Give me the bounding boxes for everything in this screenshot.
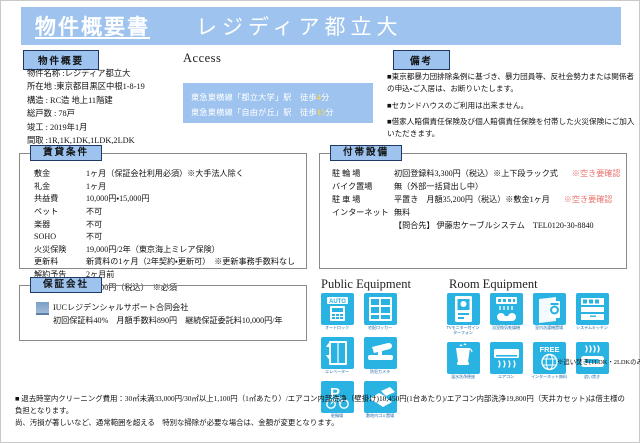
facility-row: バイク置場無（外部一括貸出し中） [332,181,620,194]
equipment-item-label: 室内洗濯機置場 [535,326,563,331]
equipment-item-label: インターネット無料 [531,375,567,380]
rent-condition-label: 更新料 [34,256,86,269]
svg-text:AUTO: AUTO [329,299,346,305]
access-line-2-pre: 東急東横線「自由が丘」駅 徒歩 [191,108,317,117]
room-equipment-heading: Room Equipment [449,277,538,292]
equipment-item-label: エアコン [498,375,514,380]
facility-value: 無料 [394,207,410,220]
rent-condition-row: ペット不可 [34,206,295,219]
rent-condition-row: 礼金1ヶ月 [34,181,295,194]
rent-condition-row: 共益費10,000円・15,000円 [34,193,295,206]
equipment-item: AUTOオートロック [319,293,355,331]
rent-condition-label: 共益費 [34,193,86,206]
facility-row: インターネット無料 [332,207,620,220]
building-logo-icon [36,302,49,315]
rent-condition-value: 1ヶ月（保証会社利用必須）※大手法人除く [86,168,244,181]
access-line-2-post: 分 [325,108,333,117]
rent-conditions-rows: 敷金1ヶ月（保証会社利用必須）※大手法人除く礼金1ヶ月共益費10,000円・15… [34,168,295,294]
access-line-2: 東急東横線「自由が丘」駅 徒歩15分 [191,106,334,118]
equipment-item-label: 防犯カメラ [370,370,390,375]
rent-condition-row: 楽器不可 [34,219,295,232]
facility-label: バイク置場 [332,181,394,194]
rent-condition-row: 火災保険19,000円/2年（東京海上ミレア保険） [34,244,295,257]
equipment-item: エレベーター [319,337,355,375]
guarantee-company-panel: 保証会社 IUCレジデンシャルサポート合同会社 初回保証料40% 月額手数料89… [19,285,307,341]
facility-value: 無（外部一括貸出し中） [394,181,483,194]
property-name-title: レジディア都立大 [196,11,403,41]
equipment-item-label: 温水洗浄便座 [451,375,475,380]
equipment-item: 温水洗浄便座 [445,342,481,380]
equipment-item-label: 宅配ロッカー [368,326,392,331]
document-title: 物件概要書 [35,11,150,41]
section-tab-guarantee-company: 保証会社 [30,277,102,293]
remarks-item: ■東京都暴力団排除条例に基づき、暴力団員等、反社会勢力または関係者の申込・ご入居… [387,71,635,95]
equipment-item: 宅配ロッカー [362,293,398,331]
equipment-item: 室内洗濯機置場 [531,293,567,336]
section-tab-rent-conditions: 賃貸条件 [30,145,102,161]
guarantee-company-name-line: IUCレジデンシャルサポート合同会社 [36,302,283,315]
rent-condition-value: 19,000円/2年（東京海上ミレア保険） [86,244,220,257]
document-header-band: 物件概要書 レジディア都立大 [21,7,621,45]
equipment-item-label: オートロック [325,326,349,331]
facility-row: 駐 車 場平置き 月額35,200円（税込）※敷金1ヶ月※空き要確認 [332,194,620,207]
svg-text:FREE: FREE [539,345,559,354]
equipment-item: 浴室換気乾燥機 [488,293,524,336]
footer-notes: ■ 退去時室内クリーニング費用：30㎡未満33,000円/30㎡以上1,100円… [15,393,627,429]
facility-availability-note: ※空き要確認 [572,168,621,181]
facilities-rows: 駐 輪 場初回登録料3,300円（税込）※上下段ラック式※空き要確認バイク置場無… [332,168,620,233]
equipment-item-label: 浴室換気乾燥機 [492,326,520,331]
rent-condition-row: SOHO不可 [34,231,295,244]
rent-condition-value: 不可 [86,231,102,244]
equipment-item-label: システムキッチン [576,326,608,331]
footer-note-line-2: 尚、汚損が著しいなど、通常範囲を超える 特別な掃除が必要な場合は、金額が変更とな… [15,417,627,429]
equipment-item: 防犯カメラ [362,337,398,375]
system-kitchen-icon [576,293,609,325]
rent-condition-row: 更新料新賃料の1ヶ月（2年契約・更新可） ※更新事務手数料なし [34,256,295,269]
guarantee-company-name: IUCレジデンシャルサポート合同会社 [53,302,188,315]
rent-condition-label: ペット [34,206,86,219]
access-box: 東急東横線「都立大学」駅 徒歩4分 東急東横線「自由が丘」駅 徒歩15分 [183,83,373,123]
access-line-1-pre: 東急東横線「都立大学」駅 徒歩 [191,93,317,102]
room-equipment-grid: TVモニター付インターフォン浴室換気乾燥機室内洗濯機置場システムキッチン温水洗浄… [445,293,640,381]
room-equipment-note: ※追い焚き(1LDK・2LDKのみ) [557,357,640,366]
equipment-item: システムキッチン [574,293,610,336]
rent-condition-value: 不可 [86,219,102,232]
rent-condition-label: 敷金 [34,168,86,181]
video-intercom-icon [447,293,480,325]
facility-label: インターネット [332,207,394,220]
access-heading: Access [183,51,221,66]
guarantee-company-terms: 初回保証料40% 月額手数料890円 継続保証委託料10,000円/年 [53,315,283,328]
equipment-item-label: エレベーター [325,370,349,375]
facility-label: 駐 車 場 [332,194,394,207]
rent-condition-label: SOHO [34,231,86,244]
equipment-item: TVモニター付インターフォン [445,293,481,336]
elevator-icon [321,337,354,369]
bath-dryer-icon [490,293,523,325]
rent-condition-value: 10,000円・15,000円 [86,193,149,206]
equipment-item-label: TVモニター付インターフォン [445,326,481,336]
washlet-icon [447,342,480,374]
property-overview-row: 物件名称 :レジディア都立大 [27,67,217,80]
facility-row: 駐 輪 場初回登録料3,300円（税込）※上下段ラック式※空き要確認 [332,168,620,181]
section-tab-remarks: 備考 [393,50,450,70]
access-line-1: 東急東横線「都立大学」駅 徒歩4分 [191,91,330,103]
access-line-1-post: 分 [321,93,329,102]
remarks-body: ■東京都暴力団排除条例に基づき、暴力団員等、反社会勢力または関係者の申込・ご入居… [387,71,635,145]
rent-condition-label: 礼金 [34,181,86,194]
rent-condition-row: 敷金1ヶ月（保証会社利用必須）※大手法人除く [34,168,295,181]
footer-note-line-1: ■ 退去時室内クリーニング費用：30㎡未満33,000円/30㎡以上1,100円… [15,393,627,417]
rent-condition-value: 不可 [86,206,102,219]
delivery-locker-icon [364,293,397,325]
equipment-item-label: 追い焚き [584,375,600,380]
remarks-item: ■セカンドハウスのご利用は出来ません。 [387,100,635,112]
auto-lock-icon: AUTO [321,293,354,325]
property-summary-document: 物件概要書 レジディア都立大 物件概要 物件名称 :レジディア都立大所在地 :東… [0,0,640,443]
facility-contact-line: 【問合先】 伊藤忠ケーブルシステム TEL0120-30-8840 [394,220,620,233]
section-tab-facilities: 付帯設備 [330,145,402,161]
public-equipment-heading: Public Equipment [321,277,411,292]
guarantee-company-body: IUCレジデンシャルサポート合同会社 初回保証料40% 月額手数料890円 継続… [36,302,283,328]
washer-space-icon [533,293,566,325]
rent-condition-value: 1ヶ月 [86,181,106,194]
equipment-item: エアコン [488,342,524,380]
facility-value: 初回登録料3,300円（税込）※上下段ラック式 [394,168,558,181]
air-conditioner-icon [490,342,523,374]
rent-conditions-panel: 賃貸条件 敷金1ヶ月（保証会社利用必須）※大手法人除く礼金1ヶ月共益費10,00… [19,153,307,269]
facilities-panel: 付帯設備 駐 輪 場初回登録料3,300円（税込）※上下段ラック式※空き要確認バ… [319,153,627,269]
remarks-item: ■借家人賠償責任保険及び個人賠償責任保険を付帯した火災保険にご加入いただきます。 [387,116,635,140]
facility-value: 平置き 月額35,200円（税込）※敷金1ヶ月 [394,194,550,207]
rent-condition-label: 火災保険 [34,244,86,257]
rent-condition-label: 楽器 [34,219,86,232]
facility-availability-note: ※空き要確認 [564,194,613,207]
facility-label: 駐 輪 場 [332,168,394,181]
rent-condition-value: 新賃料の1ヶ月（2年契約・更新可） ※更新事務手数料なし [86,256,295,269]
security-camera-icon [364,337,397,369]
